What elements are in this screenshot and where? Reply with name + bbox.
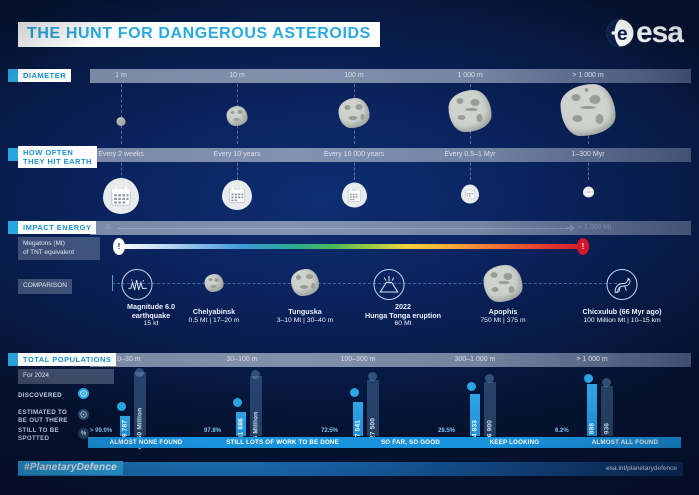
calendar-icon bbox=[465, 188, 476, 199]
diameter-tick-3: 1 000 m bbox=[457, 69, 482, 83]
volcano-glyph bbox=[379, 276, 400, 294]
bar-discovered-4: 888 bbox=[587, 384, 597, 436]
comparison-name-1: Chelyabinsk bbox=[189, 308, 240, 317]
bar-group-4: 888 936 6.2% bbox=[567, 370, 677, 436]
frequency-tick-1: Every 10 years bbox=[214, 148, 261, 162]
energy-gradient-bar bbox=[118, 244, 584, 249]
comparison-detail-4: 750 Mt | 375 m bbox=[480, 317, 525, 326]
populations-tick-3: 300–1 000 m bbox=[455, 353, 496, 367]
discovered-glyph bbox=[80, 390, 87, 397]
bar-value-discovered-1: 11 886 bbox=[238, 418, 245, 439]
comparison-name-2: Tunguska bbox=[277, 308, 334, 317]
bar-group-1: 11 886 0.6 Million 97.8% bbox=[216, 370, 326, 436]
pct-label-2: 72.5% bbox=[321, 428, 338, 434]
diameter-strip: 1 m 10 m 100 m 1 000 m > 1 000 m bbox=[90, 69, 691, 83]
pct-label-1: 97.8% bbox=[204, 428, 221, 434]
energy-knob-left: ! bbox=[113, 238, 125, 255]
calendar-icon bbox=[347, 187, 362, 202]
bar-discovered-0: 9 787 bbox=[120, 416, 130, 436]
diameter-tick-0: 1 m bbox=[115, 69, 127, 83]
bar-group-0: 9 787 40-50 Million > 99.9% bbox=[100, 370, 210, 436]
page-title-text: THE HUNT FOR DANGEROUS ASTEROIDS bbox=[27, 25, 371, 42]
earthquake-glyph bbox=[127, 277, 147, 293]
asteroid-1000m bbox=[449, 90, 492, 132]
bar-discovered-1: 11 886 bbox=[236, 412, 246, 436]
diameter-label: DIAMETER bbox=[18, 69, 71, 82]
comparison-name-4: Apophis bbox=[480, 308, 525, 317]
bar-estimated-2: 27 500 bbox=[367, 380, 379, 436]
bar-group-2: 7 541 27 500 72.5% bbox=[333, 370, 443, 436]
bar-value-discovered-3: 4 833 bbox=[472, 420, 479, 437]
legend-item-estimated: ESTIMATED TO BE OUT THERE bbox=[18, 409, 68, 424]
diameter-tick-2: 100 m bbox=[344, 69, 363, 83]
estimated-icon bbox=[135, 368, 144, 377]
calendar-icon-2-wrap bbox=[222, 180, 252, 210]
legend-label-estimated-1: ESTIMATED TO bbox=[18, 409, 68, 417]
status-label-2: SO FAR, SO GOOD bbox=[361, 437, 460, 448]
discovered-icon bbox=[467, 382, 476, 391]
frequency-label-line1: HOW OFTEN bbox=[23, 148, 92, 157]
estimated-icon bbox=[602, 378, 611, 387]
comparison-caption-4: Apophis 750 Mt | 375 m bbox=[480, 308, 525, 325]
comparison-caption-1: Chelyabinsk 0.5 Mt | 17–20 m bbox=[189, 308, 240, 325]
dinosaur-glyph bbox=[612, 275, 633, 294]
estimated-icon bbox=[368, 372, 377, 381]
legend-label-spotted-2: SPOTTED bbox=[18, 435, 59, 443]
dinosaur-icon bbox=[607, 269, 638, 300]
discovered-icon bbox=[584, 374, 593, 383]
energy-sub-line1: Megatons (Mt) bbox=[23, 240, 95, 249]
esa-logo: e esa bbox=[605, 18, 683, 48]
status-label-3: KEEP LOOKING bbox=[460, 437, 569, 448]
status-strip-0: ALMOST NONE FOUND bbox=[88, 437, 205, 448]
status-label-0: ALMOST NONE FOUND bbox=[88, 437, 204, 448]
estimated-icon bbox=[485, 374, 494, 383]
esa-globe-icon: e bbox=[605, 18, 635, 48]
bar-estimated-0: 40-50 Million bbox=[134, 372, 146, 436]
comparison-detail-2: 3–10 Mt | 30–40 m bbox=[277, 317, 334, 326]
comparison-name-5: Chicxulub (66 Myr ago) bbox=[582, 308, 661, 317]
pct-label-3: 28.5% bbox=[438, 428, 455, 434]
asteroid-apophis-icon bbox=[484, 265, 523, 302]
status-label-1: STILL LOTS OF WORK TO BE DONE bbox=[204, 437, 361, 448]
discovered-icon bbox=[233, 398, 242, 407]
esa-logo-word: esa bbox=[636, 19, 683, 47]
legend-label-discovered: DISCOVERED bbox=[18, 392, 62, 399]
diameter-tick-1: 10 m bbox=[229, 69, 245, 83]
populations-strip: 10–30 m 30–100 m 100–300 m 300–1 000 m >… bbox=[90, 353, 691, 367]
estimated-icon bbox=[251, 370, 260, 379]
populations-tick-4: > 1 000 m bbox=[576, 353, 607, 367]
discovered-icon bbox=[350, 388, 359, 397]
bar-value-discovered-0: 9 787 bbox=[122, 420, 129, 437]
populations-tick-2: 100–300 m bbox=[340, 353, 375, 367]
comparison-caption-5: Chicxulub (66 Myr ago) 100 Million Mt | … bbox=[582, 308, 661, 325]
earthquake-icon bbox=[122, 269, 153, 300]
comparison-name2-0: earthquake bbox=[127, 312, 175, 321]
status-strip-4: ALMOST ALL FOUND bbox=[569, 437, 681, 448]
svg-text:e: e bbox=[617, 23, 628, 45]
comparison-caption-0: Magnitude 6.0 earthquake 15 kt bbox=[127, 303, 175, 329]
bar-estimated-4: 936 bbox=[601, 386, 613, 436]
bar-group-3: 4 833 6 900 28.5% bbox=[450, 370, 560, 436]
hashtag-planetary-defence[interactable]: #PlanetaryDefence bbox=[18, 461, 123, 475]
bar-value-estimated-3: 6 900 bbox=[487, 420, 494, 437]
comparison-caption-3: 2022 Hunga Tonga eruption 60 Mt bbox=[365, 303, 441, 329]
comparison-label: COMPARISON bbox=[18, 279, 72, 294]
estimated-glyph bbox=[80, 411, 87, 418]
calendar-icon-5-wrap bbox=[583, 186, 594, 197]
impact-energy-label: IMPACT ENERGY bbox=[18, 221, 96, 234]
status-strip-2: SO FAR, SO GOOD bbox=[361, 437, 461, 448]
legend-item-spotted: STILL TO BE SPOTTED bbox=[18, 427, 59, 442]
asteroid-over-1000m bbox=[561, 84, 616, 136]
asteroid-10m bbox=[227, 106, 248, 126]
footer-website-link[interactable]: esa.int/planetarydefence bbox=[606, 465, 677, 472]
impact-energy-sublabel: Megatons (Mt) of TNT equivalent bbox=[18, 237, 100, 260]
calendar-icon-3-wrap bbox=[342, 182, 367, 207]
infographic-page: THE HUNT FOR DANGEROUS ASTEROIDS e esa 1… bbox=[0, 0, 699, 495]
populations-chart: 9 787 40-50 Million > 99.9% 11 886 0.6 M… bbox=[88, 370, 686, 436]
calendar-icon bbox=[228, 186, 246, 204]
asteroid-chelyabinsk-icon bbox=[205, 274, 224, 292]
status-label-4: ALMOST ALL FOUND bbox=[569, 437, 681, 448]
comparison-detail-3: 60 Mt bbox=[365, 320, 441, 329]
bar-value-discovered-2: 7 541 bbox=[355, 420, 362, 437]
comparison-start-tick bbox=[112, 275, 113, 291]
frequency-tick-0: Every 2 weeks bbox=[98, 148, 144, 162]
comparison-caption-2: Tunguska 3–10 Mt | 30–40 m bbox=[277, 308, 334, 325]
frequency-tick-2: Every 10 000 years bbox=[324, 148, 384, 162]
energy-knob-right: ! bbox=[577, 238, 589, 255]
discovered-icon bbox=[117, 402, 126, 411]
frequency-strip: Every 2 weeks Every 10 years Every 10 00… bbox=[90, 148, 691, 162]
energy-strip bbox=[90, 221, 691, 235]
populations-sublabel: For 2024 bbox=[18, 369, 114, 384]
comparison-detail-0: 15 kt bbox=[127, 320, 175, 329]
comparison-name2-3: Hunga Tonga eruption bbox=[365, 312, 441, 321]
legend-item-discovered: DISCOVERED bbox=[18, 392, 62, 400]
calendar-icon bbox=[110, 185, 132, 207]
populations-tab-marker bbox=[8, 353, 18, 366]
frequency-tick-4: 1–300 Myr bbox=[571, 148, 604, 162]
page-title: THE HUNT FOR DANGEROUS ASTEROIDS bbox=[18, 22, 380, 47]
status-strip-3: KEEP LOOKING bbox=[460, 437, 570, 448]
energy-sub-line2: of TNT equivalent bbox=[23, 249, 95, 258]
frequency-tick-3: Every 0.5–1 Myr bbox=[445, 148, 496, 162]
asteroid-1m bbox=[117, 117, 126, 126]
pct-label-4: 6.2% bbox=[555, 428, 569, 434]
diameter-tab-marker bbox=[8, 69, 18, 82]
bar-value-estimated-2: 27 500 bbox=[370, 418, 377, 439]
diameter-tick-4: > 1 000 m bbox=[572, 69, 603, 83]
legend-label-spotted-1: STILL TO BE bbox=[18, 427, 59, 435]
energy-tab-marker bbox=[8, 221, 18, 234]
comparison-connector bbox=[112, 283, 622, 284]
comparison-detail-1: 0.5 Mt | 17–20 m bbox=[189, 317, 240, 326]
bar-discovered-3: 4 833 bbox=[470, 394, 480, 436]
bar-estimated-1: 0.6 Million bbox=[250, 376, 262, 436]
status-strip-1: STILL LOTS OF WORK TO BE DONE bbox=[204, 437, 362, 448]
populations-tick-0: 10–30 m bbox=[113, 353, 140, 367]
bar-value-discovered-4: 888 bbox=[589, 423, 596, 434]
calendar-icon-1-wrap bbox=[103, 178, 139, 214]
pct-label-0: > 99.9% bbox=[90, 428, 112, 434]
bar-discovered-2: 7 541 bbox=[353, 402, 363, 436]
populations-tick-1: 30–100 m bbox=[226, 353, 257, 367]
frequency-tab-marker bbox=[8, 148, 18, 161]
legend-label-estimated-2: BE OUT THERE bbox=[18, 417, 68, 425]
calendar-icon bbox=[585, 188, 592, 195]
frequency-label-line2: THEY HIT EARTH bbox=[23, 157, 92, 166]
calendar-icon-4-wrap bbox=[461, 184, 479, 203]
asteroid-tunguska-icon bbox=[291, 269, 319, 296]
comparison-detail-5: 100 Million Mt | 10–15 km bbox=[582, 317, 661, 326]
frequency-label: HOW OFTEN THEY HIT EARTH bbox=[18, 146, 97, 168]
volcano-icon bbox=[374, 269, 405, 300]
bar-estimated-3: 6 900 bbox=[484, 382, 496, 436]
populations-label: TOTAL POPULATIONS bbox=[18, 353, 116, 366]
dash-line-1 bbox=[121, 84, 122, 144]
asteroid-100m bbox=[339, 98, 370, 128]
bar-value-estimated-4: 936 bbox=[604, 423, 611, 434]
